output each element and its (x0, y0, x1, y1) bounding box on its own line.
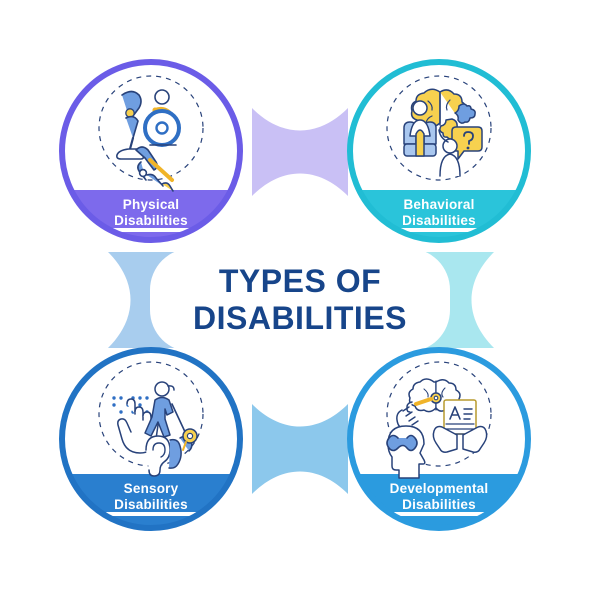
node-sensory-underline (105, 512, 198, 516)
node-sensory[interactable] (56, 350, 246, 534)
nodes-layer (0, 0, 600, 600)
node-physical[interactable] (56, 62, 246, 250)
infographic-stage: TYPES OF DISABILITIES Physical Disabilit… (0, 0, 600, 600)
node-developmental[interactable] (344, 350, 534, 534)
infographic-root: TYPES OF DISABILITIES Physical Disabilit… (0, 0, 600, 600)
node-developmental-underline (393, 512, 486, 516)
node-behavioral[interactable] (344, 62, 534, 250)
